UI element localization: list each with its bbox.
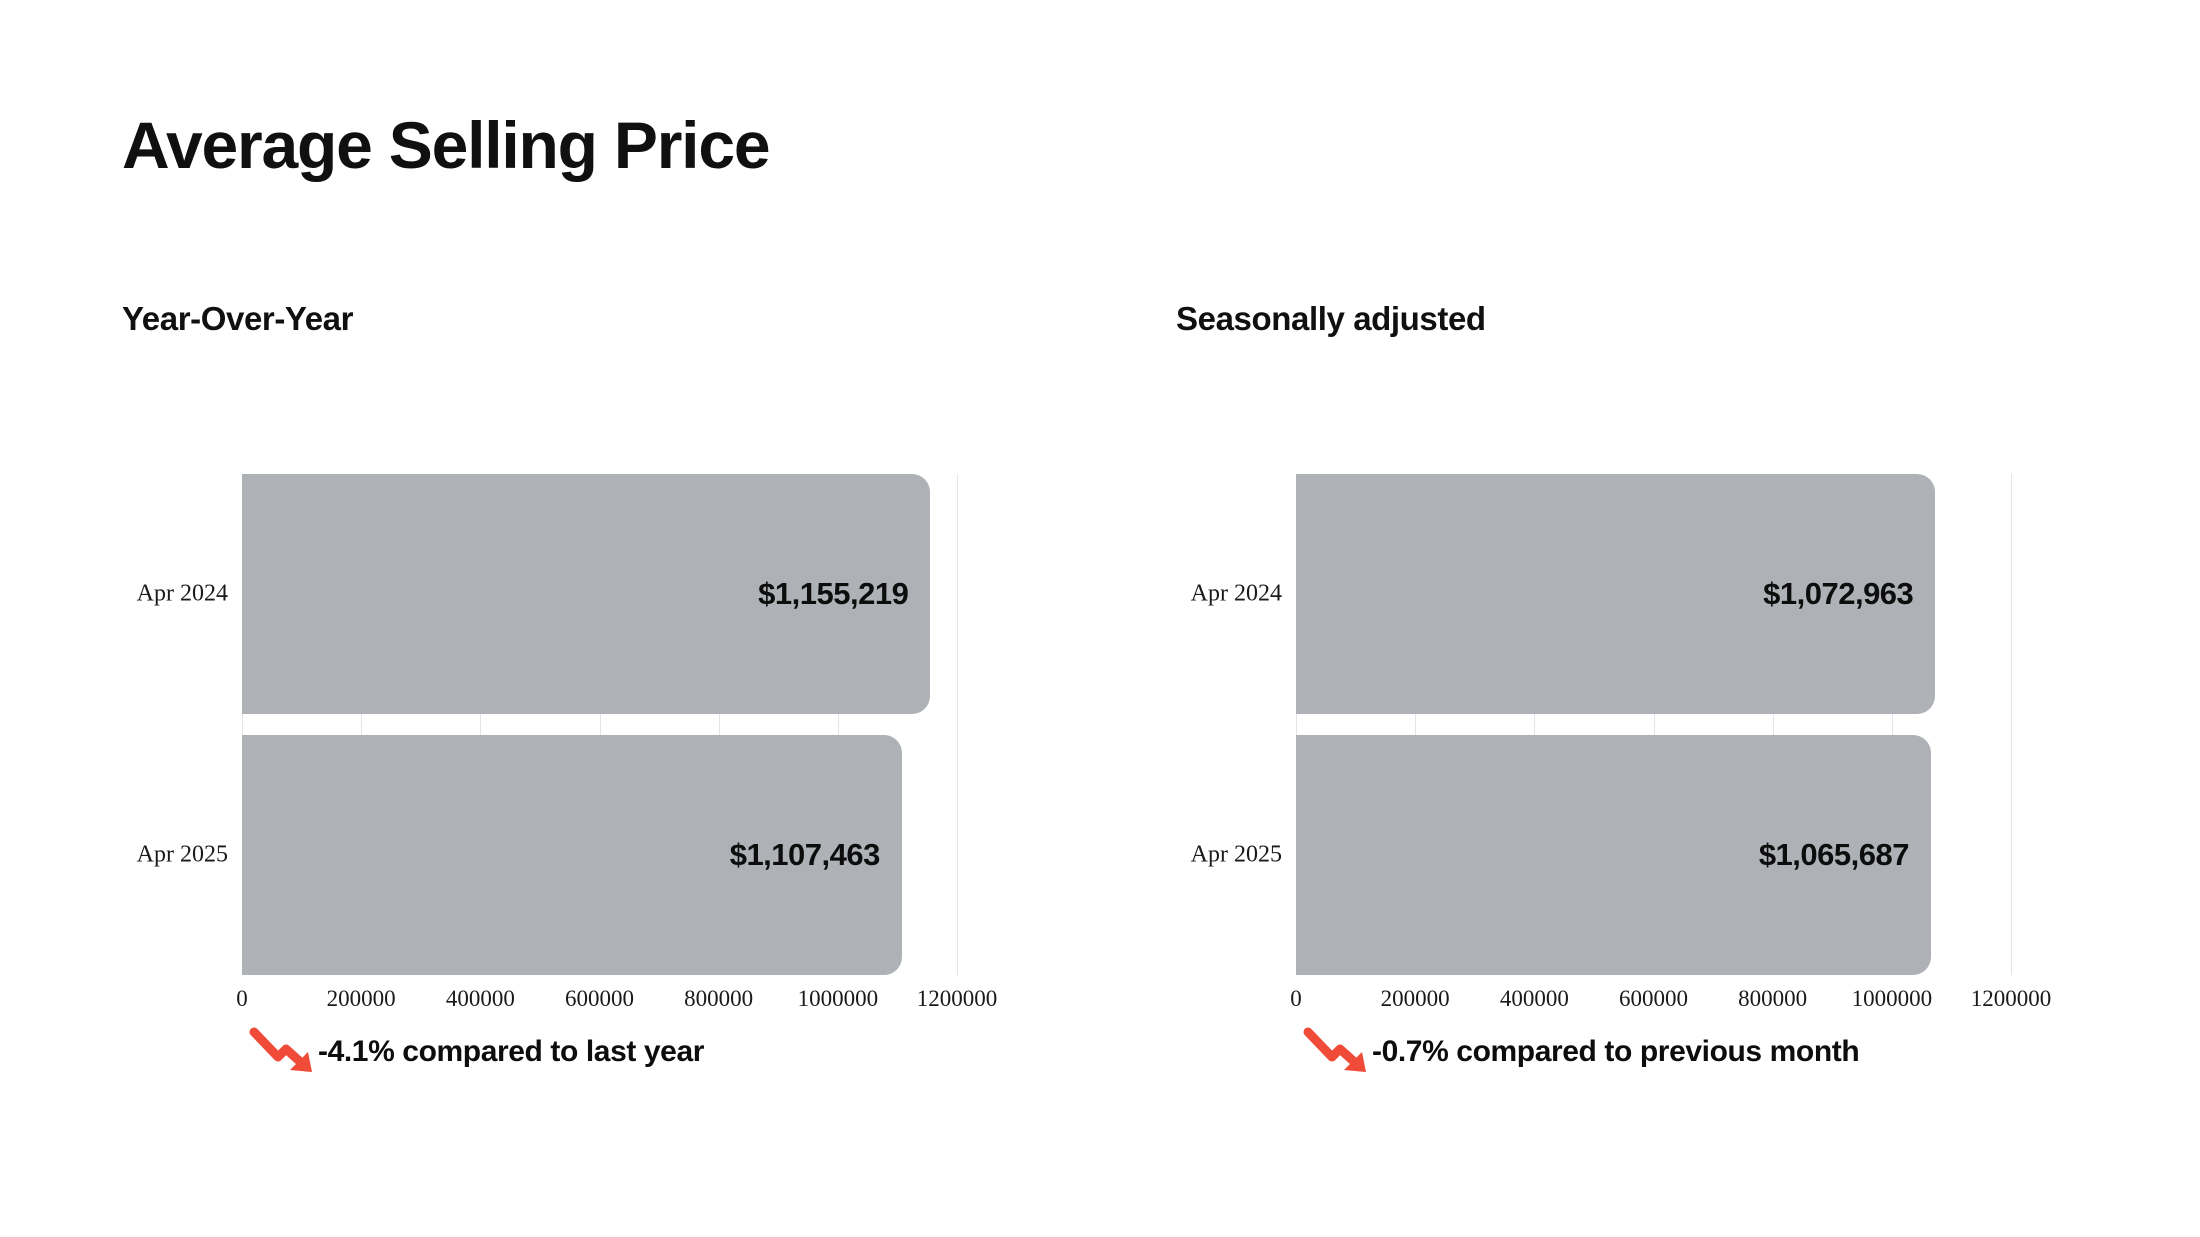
category-label: Apr 2025 (1191, 842, 1282, 869)
x-axis-tick-label: 0 (1290, 975, 1302, 1012)
bar-row: Apr 2025 $1,065,687 (1296, 735, 2011, 975)
footnote-seasonally-adjusted: -0.7% compared to previous month (1302, 1022, 1859, 1082)
bar-apr-2025[interactable]: $1,107,463 (242, 735, 902, 975)
x-axis-tick-label: 1200000 (917, 975, 998, 1012)
bar-row: Apr 2024 $1,072,963 (1296, 474, 2011, 714)
chart-page: Average Selling Price Year-Over-Year Apr… (0, 0, 2200, 1237)
footnote-text: -0.7% compared to previous month (1372, 1035, 1859, 1069)
category-label: Apr 2025 (137, 842, 228, 869)
gridline (957, 474, 958, 975)
bar-value-label: $1,072,963 (1763, 576, 1913, 612)
x-axis-tick-label: 1000000 (798, 975, 879, 1012)
panel-title-year-over-year: Year-Over-Year (122, 300, 353, 338)
bar-apr-2024[interactable]: $1,072,963 (1296, 474, 1935, 714)
x-axis-tick-label: 800000 (1738, 975, 1807, 1012)
x-axis-tick-label: 1000000 (1852, 975, 1933, 1012)
bar-value-label: $1,107,463 (730, 837, 880, 873)
bar-value-label: $1,155,219 (758, 576, 908, 612)
footnote-text: -4.1% compared to last year (318, 1035, 704, 1069)
trend-down-arrow-icon (1302, 1024, 1376, 1080)
panel-year-over-year: Year-Over-Year Apr 2024 $1,155,219 Apr 2… (0, 0, 1100, 1237)
x-axis-tick-label: 600000 (1619, 975, 1688, 1012)
x-axis-tick-label: 400000 (446, 975, 515, 1012)
panel-title-seasonally-adjusted: Seasonally adjusted (1176, 300, 1486, 338)
x-axis-tick-label: 400000 (1500, 975, 1569, 1012)
footnote-year-over-year: -4.1% compared to last year (248, 1022, 704, 1082)
bar-apr-2024[interactable]: $1,155,219 (242, 474, 930, 714)
category-label: Apr 2024 (137, 581, 228, 608)
bar-row: Apr 2025 $1,107,463 (242, 735, 957, 975)
gridline (2011, 474, 2012, 975)
x-axis-tick-label: 200000 (1381, 975, 1450, 1012)
panel-seasonally-adjusted: Seasonally adjusted Apr 2024 $1,072,963 … (1054, 0, 2154, 1237)
trend-down-arrow-icon (248, 1024, 322, 1080)
x-axis-tick-label: 1200000 (1971, 975, 2052, 1012)
x-axis-tick-label: 800000 (684, 975, 753, 1012)
x-axis-tick-label: 200000 (327, 975, 396, 1012)
bar-apr-2025[interactable]: $1,065,687 (1296, 735, 1931, 975)
plot-area-year-over-year: Apr 2024 $1,155,219 Apr 2025 $1,107,463 … (242, 474, 957, 975)
x-axis-tick-label: 600000 (565, 975, 634, 1012)
plot-area-seasonally-adjusted: Apr 2024 $1,072,963 Apr 2025 $1,065,687 … (1296, 474, 2011, 975)
category-label: Apr 2024 (1191, 581, 1282, 608)
x-axis-tick-label: 0 (236, 975, 248, 1012)
bar-row: Apr 2024 $1,155,219 (242, 474, 957, 714)
bar-value-label: $1,065,687 (1759, 837, 1909, 873)
